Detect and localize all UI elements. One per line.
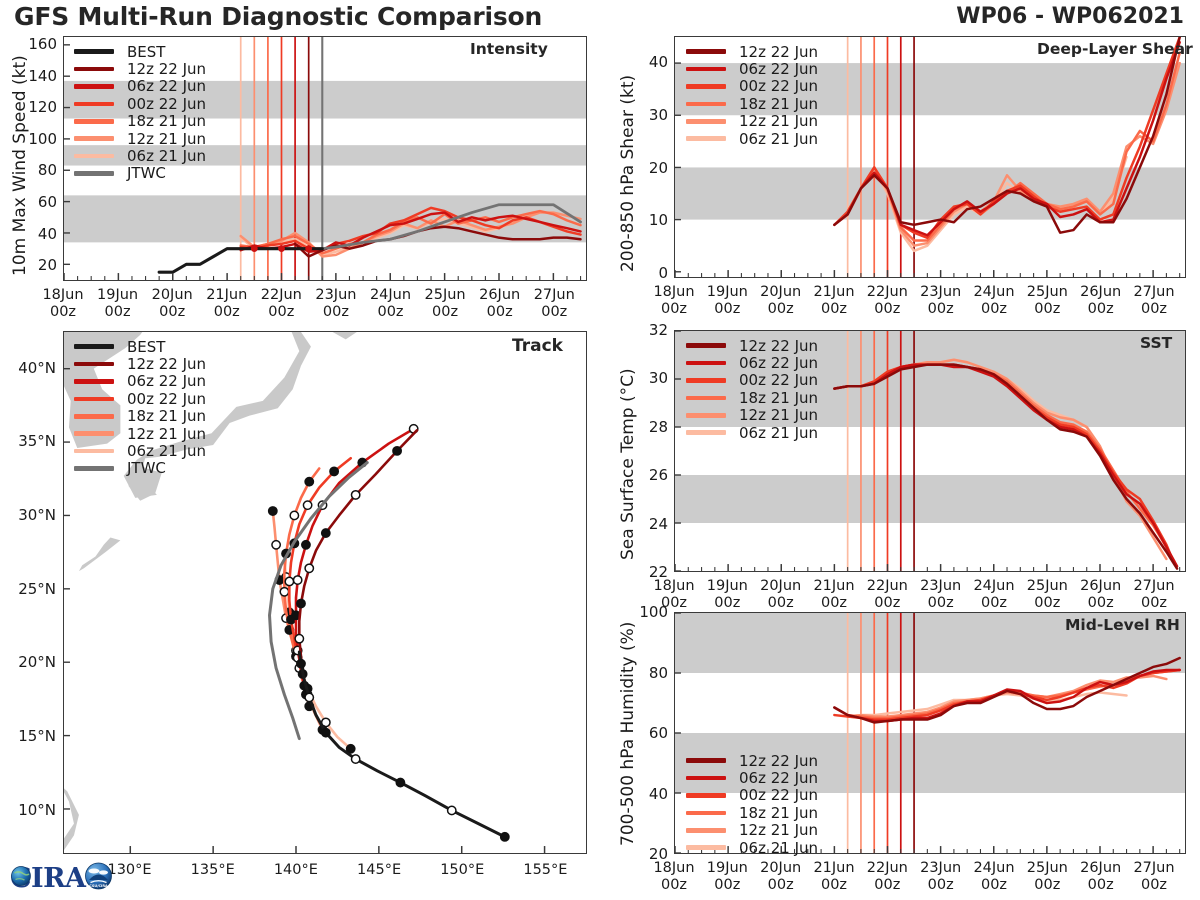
legend-label: 12z 21 Jun [739,406,818,424]
legend-swatch-icon [686,84,726,89]
legend-label: 12z 21 Jun [127,130,206,148]
legend-item[interactable]: 06z 22 Jun [686,354,818,371]
legend-label: 06z 22 Jun [127,77,206,95]
track-marker-12z [448,806,456,814]
legend-item[interactable]: 18z 21 Jun [74,408,206,425]
legend-item[interactable]: JTWC [74,460,206,477]
track-line [299,652,505,837]
y-tick-label: 26 [626,466,668,484]
legend-swatch-icon [686,361,726,366]
legend-item[interactable]: BEST [74,338,206,355]
legend-swatch-icon [686,776,726,781]
legend-label: JTWC [127,164,166,182]
track-marker-00z [330,467,338,475]
legend-label: 00z 22 Jun [739,77,818,95]
y-tick-label: 28 [626,418,668,436]
legend-swatch-icon [74,362,114,367]
track-marker-00z [297,599,305,607]
legend-swatch-icon [686,793,726,798]
track-marker-12z [305,693,313,701]
x-tick-label: 135°E [179,862,247,879]
y-tick-label: 80 [15,161,57,179]
legend-label: 06z 22 Jun [739,60,818,78]
y-tick-label: 100 [626,603,668,621]
legend-item[interactable]: BEST [74,43,206,60]
figure-root: GFS Multi-Run Diagnostic Comparison WP06… [0,0,1200,900]
y-tick-label: 120 [15,98,57,116]
y-tick-label: 60 [15,193,57,211]
panel-label-shear: Deep-Layer Shear [1037,40,1193,58]
track-marker-00z [269,507,277,515]
legend-item[interactable]: 06z 21 Jun [74,442,206,459]
x-tick-label: 27Jun00z [1122,578,1186,612]
legend-item[interactable]: 12z 22 Jun [686,752,818,769]
y-tick-label: 20 [626,159,668,177]
y-tick-label: 10 [626,211,668,229]
legend-item[interactable]: 06z 21 Jun [686,424,818,441]
legend-swatch-icon [74,397,114,402]
legend-label: 12z 22 Jun [127,60,206,78]
legend-item[interactable]: 06z 22 Jun [74,373,206,390]
legend-swatch-icon [74,119,114,124]
track-marker-00z [297,659,305,667]
legend-label: 00z 22 Jun [739,371,818,389]
y-tick-label: 60 [626,724,668,742]
track-marker-12z [285,577,293,585]
y-tick-label: 0 [626,264,668,282]
legend-label: 06z 21 Jun [127,442,206,460]
legend-swatch-icon [686,396,726,401]
legend-item[interactable]: 12z 22 Jun [686,43,818,60]
legend-label: JTWC [127,459,166,477]
legend-shear[interactable]: 12z 22 Jun06z 22 Jun00z 22 Jun18z 21 Jun… [686,43,818,147]
legend-label: 06z 21 Jun [739,424,818,442]
track-marker-00z [393,447,401,455]
legend-item[interactable]: 00z 22 Jun [74,390,206,407]
panel-label-rh: Mid-Level RH [1065,616,1193,634]
legend-item[interactable]: 12z 21 Jun [686,113,818,130]
track-marker-00z [501,833,509,841]
y-tick-label: 25°N [0,580,56,598]
svg-text:CSU/CIRA: CSU/CIRA [89,884,108,888]
legend-swatch-icon [686,343,726,348]
track-marker-12z [351,755,359,763]
x-tick-label: 145°E [345,862,413,879]
x-tick-label: 140°E [262,862,330,879]
legend-item[interactable]: 12z 21 Jun [74,425,206,442]
y-tick-label: 20°N [0,653,56,671]
legend-swatch-icon [74,344,114,349]
legend-swatch-icon [74,171,114,176]
y-tick-label: 40 [626,785,668,803]
y-tick-label: 100 [15,130,57,148]
legend-label: 18z 21 Jun [127,112,206,130]
legend-item[interactable]: 06z 22 Jun [686,60,818,77]
legend-swatch-icon [686,119,726,124]
legend-swatch-icon [74,136,114,141]
legend-swatch-icon [74,154,114,159]
legend-label: 00z 22 Jun [739,786,818,804]
legend-swatch-icon [74,49,114,54]
legend-swatch-icon [686,758,726,763]
x-tick-label: 155°E [511,862,579,879]
y-tick-label: 10°N [0,801,56,819]
legend-label: 06z 22 Jun [739,769,818,787]
y-tick-label: 20 [15,256,57,274]
legend-item[interactable]: 12z 21 Jun [686,822,818,839]
legend-swatch-icon [74,67,114,72]
legend-item[interactable]: 12z 22 Jun [686,337,818,354]
legend-swatch-icon [686,102,726,107]
legend-swatch-icon [686,378,726,383]
legend-swatch-icon [686,811,726,816]
panel-label-sst: SST [1140,334,1193,352]
legend-item[interactable]: 18z 21 Jun [686,804,818,821]
legend-item[interactable]: 06z 21 Jun [686,839,818,856]
legend-label: 12z 21 Jun [127,425,206,443]
legend-label: 18z 21 Jun [127,407,206,425]
legend-swatch-icon [686,67,726,72]
legend-swatch-icon [74,102,114,107]
legend-swatch-icon [74,84,114,89]
legend-swatch-icon [74,431,114,436]
y-tick-label: 35°N [0,432,56,450]
track-marker-00z [322,529,330,537]
legend-item[interactable]: 06z 21 Jun [74,147,206,164]
legend-item[interactable]: 12z 21 Jun [74,130,206,147]
legend-item[interactable]: 00z 22 Jun [686,787,818,804]
track-marker-12z [293,576,301,584]
legend-label: 18z 21 Jun [739,95,818,113]
legend-label: 12z 21 Jun [739,112,818,130]
legend-item[interactable]: 12z 21 Jun [686,407,818,424]
track-marker-00z [305,478,313,486]
x-tick-label: 27Jun00z [1122,284,1186,318]
legend-label: 06z 21 Jun [127,147,206,165]
legend-swatch-icon [686,413,726,418]
x-tick-label: 150°E [428,862,496,879]
legend-label: 00z 22 Jun [127,390,206,408]
legend-item[interactable]: 12z 22 Jun [74,355,206,372]
track-marker-12z [280,588,288,596]
track-marker-00z [322,728,330,736]
track-marker-12z [272,541,280,549]
legend-label: 06z 22 Jun [739,354,818,372]
legend-label: 00z 22 Jun [127,95,206,113]
legend-label: BEST [127,43,165,61]
legend-item[interactable]: 00z 22 Jun [686,78,818,95]
y-tick-label: 80 [626,664,668,682]
legend-swatch-icon [74,466,114,471]
legend-label: 12z 21 Jun [739,821,818,839]
legend-item[interactable]: JTWC [74,165,206,182]
legend-item[interactable]: 00z 22 Jun [74,95,206,112]
page-title: GFS Multi-Run Diagnostic Comparison [14,2,542,31]
y-tick-label: 30 [626,106,668,124]
legend-swatch-icon [686,430,726,435]
track-marker-12z [295,635,303,643]
track-marker-00z [302,541,310,549]
storm-id-title: WP06 - WP062021 [956,4,1184,29]
legend-swatch-icon [74,379,114,384]
x-tick-label: 27Jun00z [1122,860,1186,894]
legend-swatch-icon [74,449,114,454]
legend-swatch-icon [686,845,726,850]
y-tick-label: 24 [626,515,668,533]
y-tick-label: 40 [15,225,57,243]
y-tick-label: 15°N [0,727,56,745]
track-marker-12z [290,511,298,519]
track-marker-00z [396,778,404,786]
legend-swatch-icon [686,828,726,833]
legend-rh[interactable]: 12z 22 Jun06z 22 Jun00z 22 Jun18z 21 Jun… [686,752,818,856]
y-tick-label: 30 [626,369,668,387]
legend-label: 12z 22 Jun [127,355,206,373]
legend-track[interactable]: BEST12z 22 Jun06z 22 Jun00z 22 Jun18z 21… [74,338,206,477]
legend-label: 12z 22 Jun [739,752,818,770]
legend-label: 12z 22 Jun [739,337,818,355]
landmass [79,538,120,572]
legend-intensity[interactable]: BEST12z 22 Jun06z 22 Jun00z 22 Jun18z 21… [74,43,206,182]
legend-item[interactable]: 18z 21 Jun [74,113,206,130]
legend-item[interactable]: 06z 22 Jun [686,769,818,786]
legend-item[interactable]: 12z 22 Jun [74,60,206,77]
y-tick-label: 30°N [0,506,56,524]
legend-item[interactable]: 00z 22 Jun [686,372,818,389]
legend-label: 18z 21 Jun [739,389,818,407]
cira-logo: CIRA CSU/CIRA [8,858,120,896]
legend-item[interactable]: 18z 21 Jun [686,389,818,406]
y-tick-label: 140 [15,67,57,85]
legend-label: 06z 21 Jun [739,130,818,148]
legend-label: 12z 22 Jun [739,43,818,61]
y-tick-label: 160 [15,35,57,53]
track-marker-12z [305,564,313,572]
legend-swatch-icon [74,414,114,419]
legend-swatch-icon [686,49,726,54]
legend-item[interactable]: 06z 22 Jun [74,78,206,95]
panel-label-track: Track [512,336,1193,356]
legend-sst[interactable]: 12z 22 Jun06z 22 Jun00z 22 Jun18z 21 Jun… [686,337,818,441]
legend-label: 06z 21 Jun [739,839,818,857]
track-marker-12z [351,491,359,499]
legend-item[interactable]: 06z 21 Jun [686,130,818,147]
legend-item[interactable]: 18z 21 Jun [686,95,818,112]
legend-label: 18z 21 Jun [739,804,818,822]
legend-label: 06z 22 Jun [127,372,206,390]
landmass [64,683,79,850]
legend-label: BEST [127,338,165,356]
y-tick-label: 40°N [0,359,56,377]
track-marker-12z [303,501,311,509]
x-tick-label: 27Jun00z [522,287,586,321]
legend-swatch-icon [686,136,726,141]
